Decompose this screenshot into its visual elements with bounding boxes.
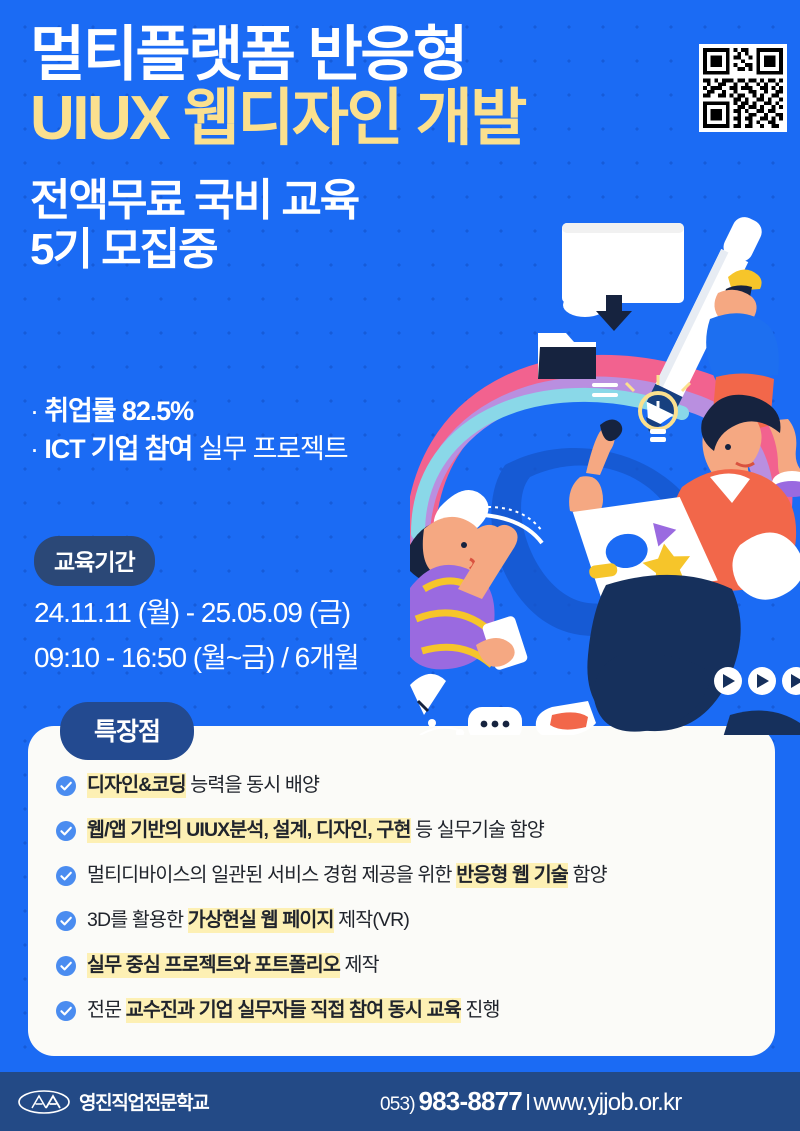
check-circle-icon <box>56 866 76 886</box>
key-point-text-light: 실무 프로젝트 <box>199 434 348 464</box>
key-points-list: · 취업률 82.5% · ICT 기업 참여 실무 프로젝트 <box>30 392 348 469</box>
feature-plain: 등 실무기술 함양 <box>415 819 544 841</box>
check-circle-icon <box>56 956 76 976</box>
feature-text: 3D를 활용한 가상현실 웹 페이지 제작(VR) <box>87 907 409 933</box>
footer-bar: 영진직업전문학교 053) 983-8877 l www.yjjob.or.kr <box>0 1072 800 1131</box>
qr-code-icon[interactable] <box>699 44 787 132</box>
check-circle-icon <box>56 911 76 931</box>
feature-plain-pre: 멀티디바이스의 일관된 서비스 경험 제공을 위한 <box>87 864 452 886</box>
feature-plain: 제작 <box>345 954 379 976</box>
feature-highlight: 가상현실 웹 페이지 <box>188 908 334 933</box>
feature-item: 웹/앱 기반의 UIUX분석, 설계, 디자인, 구현 등 실무기술 함양 <box>56 817 756 862</box>
school-emblem-icon <box>18 1090 70 1114</box>
illustration-people-design <box>410 215 800 735</box>
feature-item: 전문 교수진과 기업 실무자들 직접 참여 동시 교육 진행 <box>56 997 756 1042</box>
feature-highlight: 반응형 웹 기술 <box>456 863 568 888</box>
feature-highlight: 실무 중심 프로젝트와 포트폴리오 <box>87 953 340 978</box>
feature-item: 3D를 활용한 가상현실 웹 페이지 제작(VR) <box>56 907 756 952</box>
feature-plain: 능력을 동시 배양 <box>190 774 319 796</box>
feature-highlight: 디자인&코딩 <box>87 773 186 798</box>
feature-text: 디자인&코딩 능력을 동시 배양 <box>87 772 319 798</box>
feature-highlight: 웹/앱 기반의 UIUX분석, 설계, 디자인, 구현 <box>87 818 411 843</box>
education-period-dates: 24.11.11 (월) - 25.05.09 (금) <box>34 595 359 631</box>
feature-plain: 함양 <box>572 864 606 886</box>
feature-plain: 제작(VR) <box>338 909 409 931</box>
feature-item: 실무 중심 프로젝트와 포트폴리오 제작 <box>56 952 756 997</box>
bullet-marker: · <box>30 396 38 426</box>
education-period-hours: 09:10 - 16:50 (월~금) / 6개월 <box>34 640 359 676</box>
key-point-text-strong: 취업률 82.5% <box>44 396 193 426</box>
feature-item: 디자인&코딩 능력을 동시 배양 <box>56 772 756 817</box>
title-line-1: 멀티플랫폼 반응형 <box>30 26 690 85</box>
features-list: 디자인&코딩 능력을 동시 배양 웹/앱 기반의 UIUX분석, 설계, 디자인… <box>56 772 756 1042</box>
school-name: 영진직업전문학교 <box>79 1088 208 1115</box>
phone-number[interactable]: 983-8877 <box>418 1086 521 1116</box>
key-point-employment-rate: · 취업률 82.5% <box>30 392 348 430</box>
check-circle-icon <box>56 776 76 796</box>
check-circle-icon <box>56 821 76 841</box>
feature-plain-pre: 전문 <box>87 999 121 1021</box>
education-period-block: 교육기간 24.11.11 (월) - 25.05.09 (금) 09:10 -… <box>34 536 359 677</box>
education-period-badge: 교육기간 <box>34 536 155 586</box>
feature-text: 전문 교수진과 기업 실무자들 직접 참여 동시 교육 진행 <box>87 997 500 1023</box>
poster-root: 멀티플랫폼 반응형 UIUX 웹디자인 개발 전액무료 국비 교육 5기 모집중 <box>0 0 800 1131</box>
bullet-marker: · <box>30 434 38 464</box>
key-point-text-strong: ICT 기업 참여 <box>44 434 192 464</box>
feature-item: 멀티디바이스의 일관된 서비스 경험 제공을 위한 반응형 웹 기술 함양 <box>56 862 756 907</box>
phone-prefix: 053) <box>380 1094 415 1115</box>
school-logo: 영진직업전문학교 <box>18 1088 208 1115</box>
feature-highlight: 교수진과 기업 실무자들 직접 참여 동시 교육 <box>126 998 461 1023</box>
separator: l <box>526 1090 530 1115</box>
feature-plain: 진행 <box>465 999 499 1021</box>
feature-text: 실무 중심 프로젝트와 포트폴리오 제작 <box>87 952 379 978</box>
feature-text: 웹/앱 기반의 UIUX분석, 설계, 디자인, 구현 등 실무기술 함양 <box>87 817 544 843</box>
feature-text: 멀티디바이스의 일관된 서비스 경험 제공을 위한 반응형 웹 기술 함양 <box>87 862 607 888</box>
website-url[interactable]: www.yjjob.or.kr <box>533 1089 681 1116</box>
title-line-2: UIUX 웹디자인 개발 <box>30 87 690 150</box>
features-badge: 특장점 <box>60 702 194 760</box>
contact-info[interactable]: 053) 983-8877 l www.yjjob.or.kr <box>380 1086 681 1117</box>
key-point-ict-project: · ICT 기업 참여 실무 프로젝트 <box>30 430 348 468</box>
feature-plain-pre: 3D를 활용한 <box>87 909 183 931</box>
check-circle-icon <box>56 1001 76 1021</box>
